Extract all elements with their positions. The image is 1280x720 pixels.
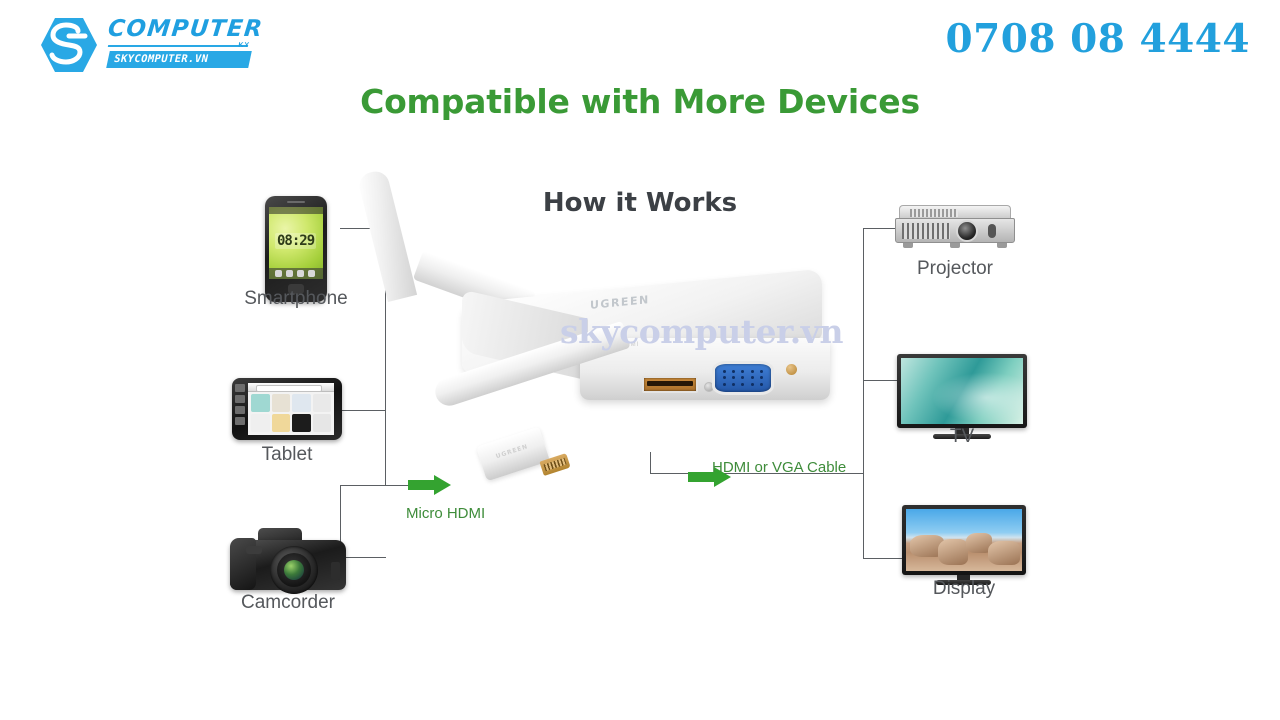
page-title: Compatible with More Devices — [0, 82, 1280, 121]
display-icon — [902, 505, 1026, 587]
flow-label-hdmi-or-vga-cable: HDMI or VGA Cable — [712, 459, 846, 476]
projector-foot-right — [997, 243, 1007, 248]
right-flow-riser — [650, 452, 651, 474]
tv-screen — [901, 358, 1023, 424]
brand-text-column: COMPUTER KY SKYCOMPUTER.VN — [108, 18, 250, 68]
right-bracket-spine — [863, 228, 864, 558]
smartphone-clock: 08:29 — [275, 233, 316, 249]
vga-port — [712, 361, 774, 395]
plug-brand-label: UGREEN — [495, 443, 529, 460]
brand-word: COMPUTER — [107, 18, 251, 41]
projector-foot-left — [903, 243, 913, 248]
smartphone-dock — [269, 268, 323, 279]
tablet-url-bar — [256, 385, 322, 392]
section-title: How it Works — [430, 188, 850, 218]
tv-bezel — [897, 354, 1027, 428]
projector-front — [895, 218, 1015, 243]
left-branch-camcorder-upper — [340, 485, 386, 486]
flow-label-micro-hdmi: Micro HDMI — [406, 505, 485, 522]
brand-domain-bar: SKYCOMPUTER.VN — [106, 51, 252, 68]
projector-lens — [956, 220, 978, 242]
green-arrow-right-icon-micro-hdmi — [408, 474, 452, 496]
hdmi-port — [642, 376, 698, 393]
projector-icon — [895, 205, 1015, 251]
camcorder-icon — [230, 528, 346, 590]
camcorder-lens-inner — [277, 553, 311, 587]
projector-vent-grid — [902, 223, 950, 239]
device-label-smartphone: Smartphone — [216, 288, 376, 310]
vga-screw-right — [786, 364, 797, 375]
device-label-camcorder: Camcorder — [208, 592, 368, 614]
camcorder-lens-glass — [284, 560, 304, 580]
vga-pin-array — [720, 369, 766, 387]
smartphone-icon: 08:29 — [265, 196, 327, 302]
micro-hdmi-plug: UGREEN — [476, 427, 550, 482]
camcorder-dial — [246, 546, 262, 554]
tablet-app-grid — [251, 394, 331, 432]
camcorder-lens — [270, 546, 318, 594]
camcorder-button — [331, 562, 340, 580]
device-label-tablet: Tablet — [207, 444, 367, 466]
phone-number[interactable]: 0708 08 4444 — [945, 16, 1250, 62]
sky-s-monogram-icon — [38, 16, 100, 74]
smartphone-screen: 08:29 — [269, 207, 323, 279]
display-screen — [906, 509, 1022, 571]
display-wallpaper-rock-d — [988, 541, 1020, 565]
left-branch-tablet — [340, 410, 386, 411]
device-label-display: Display — [884, 578, 1044, 600]
tablet-screen — [248, 383, 334, 435]
projector-top-vents — [910, 209, 958, 217]
projector-foot-mid — [950, 243, 960, 248]
tablet-side-buttons — [235, 384, 245, 434]
right-branch-display — [863, 558, 905, 559]
left-flow-stem — [386, 485, 408, 486]
brand-domain: SKYCOMPUTER.VN — [113, 53, 248, 65]
cable-upper-segment — [357, 169, 418, 302]
product-infographic-page: COMPUTER KY SKYCOMPUTER.VN 0708 08 4444 … — [0, 0, 1280, 720]
brand-logo[interactable]: COMPUTER KY SKYCOMPUTER.VN — [38, 14, 248, 76]
tablet-browser-chrome — [248, 383, 334, 392]
right-branch-tv — [863, 380, 901, 381]
projector-top — [899, 205, 1011, 219]
display-wallpaper-rock-b — [938, 539, 968, 565]
tablet-icon — [232, 378, 342, 440]
brand-sub: KY — [108, 42, 251, 49]
camcorder-grip — [230, 538, 256, 590]
device-label-tv: TV — [882, 426, 1042, 448]
display-bezel — [902, 505, 1026, 575]
smartphone-statusbar — [269, 207, 323, 214]
left-branch-camcorder — [340, 557, 386, 558]
smartphone-speaker — [287, 201, 305, 203]
projector-sensor — [988, 224, 996, 238]
device-label-projector: Projector — [875, 258, 1035, 280]
